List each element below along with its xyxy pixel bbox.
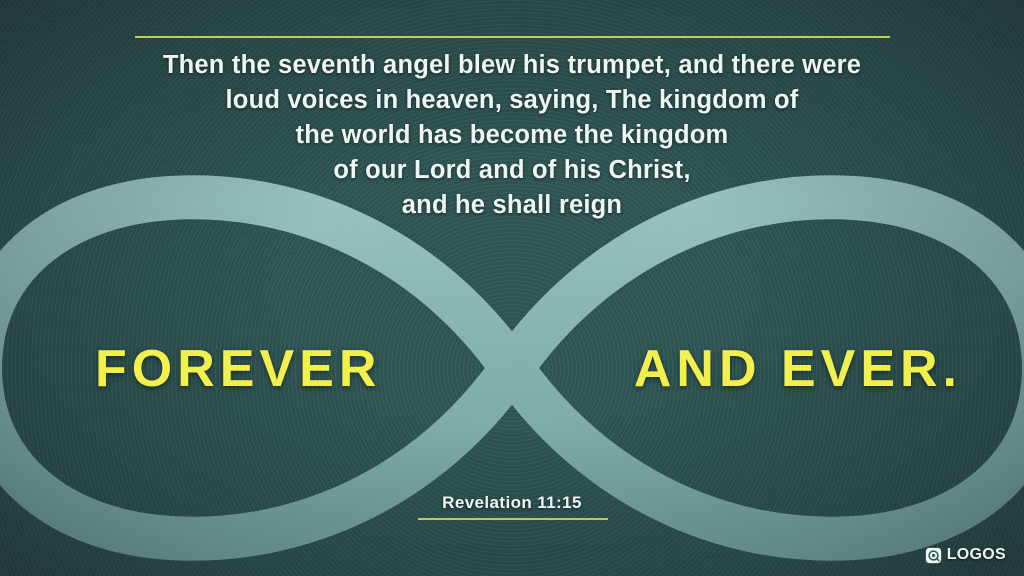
citation-divider-rule [418,518,608,520]
verse-text: Then the seventh angel blew his trumpet,… [0,48,1024,223]
scripture-reference: Revelation 11:15 [0,493,1024,513]
top-divider-rule [135,36,890,38]
logos-wordmark: LOGOS [947,546,1006,564]
slide-canvas: Then the seventh angel blew his trumpet,… [0,0,1024,576]
logos-mark-icon [925,547,942,564]
verse-line: Then the seventh angel blew his trumpet,… [0,48,1024,83]
headline-and-ever: AND EVER. [634,338,962,400]
headline-forever: FOREVER [95,338,381,400]
verse-line: and he shall reign [0,188,1024,223]
verse-line: the world has become the kingdom [0,118,1024,153]
verse-line: loud voices in heaven, saying, The kingd… [0,83,1024,118]
logos-branding: LOGOS [925,546,1006,564]
verse-line: of our Lord and of his Christ, [0,153,1024,188]
